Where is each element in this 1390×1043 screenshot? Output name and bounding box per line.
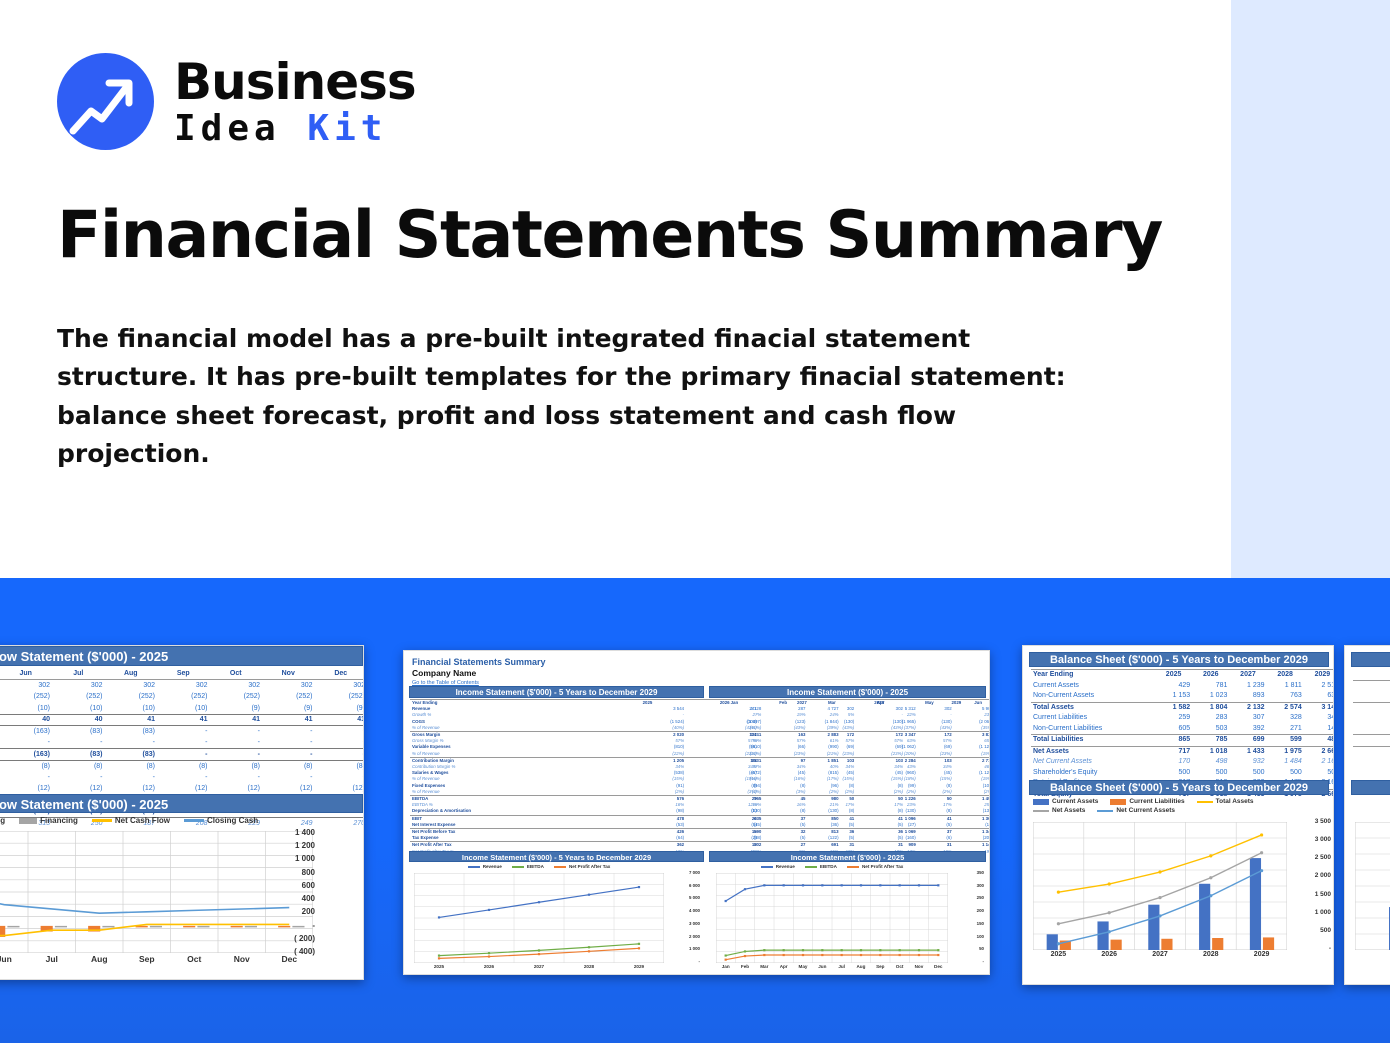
axis-tick: Nov bbox=[909, 964, 928, 969]
table-cell: - bbox=[0, 772, 52, 784]
table-cell: (8) bbox=[210, 760, 263, 772]
table-cell: (12) bbox=[0, 783, 52, 795]
table-cell: (10) bbox=[0, 703, 52, 715]
table-row: 124 bbox=[1353, 691, 1390, 702]
legend-label: Revenue bbox=[776, 864, 795, 869]
axis-tick: Sep bbox=[871, 964, 890, 969]
table-cell: 392 bbox=[1229, 724, 1266, 735]
table-cell: 93 bbox=[1353, 713, 1390, 724]
brand-logo: Business Idea Kit bbox=[57, 53, 416, 150]
axis-tick: 1 000 bbox=[1289, 909, 1331, 916]
table-row: Current Assets4297811 2391 8112 513 bbox=[1031, 681, 1334, 692]
legend-item: Net Current Assets bbox=[1097, 807, 1175, 814]
table-cell: 36 bbox=[808, 829, 857, 836]
table-row: (5)(5)(5)(5)(5)(5)(4)(4)(4)(4)(4)(4) bbox=[710, 822, 990, 829]
table-cell: 512 bbox=[1353, 746, 1390, 757]
column-header: Sep bbox=[157, 668, 210, 680]
axis-tick: 1 500 bbox=[1289, 891, 1331, 898]
legend-item: Current Assets bbox=[1033, 798, 1098, 805]
table-cell: 124 bbox=[1353, 691, 1390, 702]
table-cell: 1 484 bbox=[1267, 757, 1304, 768]
brand-name-primary: Business bbox=[174, 57, 416, 107]
legend-label: EBITDA bbox=[527, 864, 544, 869]
table-cell: Apr bbox=[856, 700, 905, 707]
table-cell: 1 297 bbox=[1353, 702, 1390, 713]
balance-sheet-chart-plot bbox=[1033, 822, 1287, 950]
table-cell: (2%) bbox=[905, 789, 954, 796]
table-row: Non-Current Liabilities605503392271141 bbox=[1031, 724, 1334, 735]
table-cell: (9) bbox=[315, 703, 365, 715]
legend-swatch bbox=[805, 866, 817, 868]
table-row: (249)(252)(252)(252)(252)(252)(252)(252) bbox=[0, 691, 364, 703]
table-cell: 302 bbox=[315, 680, 365, 692]
table-cell: 172 bbox=[856, 732, 905, 739]
legend-swatch bbox=[92, 819, 112, 822]
table-cell: 31 bbox=[954, 842, 990, 849]
table-cell: 426 bbox=[609, 829, 686, 836]
table-cell: 2025 bbox=[1155, 670, 1192, 681]
balance-sheet-monthly-screenshot-panel[interactable]: Jan1 1741241 297936927865121 08150012512… bbox=[1344, 645, 1390, 985]
axis-tick: 4 000 bbox=[666, 908, 700, 913]
table-cell: 50 bbox=[954, 796, 990, 803]
table-row: (2)(5)(5)(5)(6)(6)(6)(6)(6)(6)(6)(6) bbox=[710, 835, 990, 842]
income-monthly-table: JanFebMarAprMayJunJulAugSepOctNovDec2412… bbox=[710, 699, 990, 855]
table-cell: 45 bbox=[759, 796, 808, 803]
table-cell: 498 bbox=[1192, 757, 1229, 768]
table-cell: 699 bbox=[1229, 735, 1266, 747]
legend-label: Net Cash Flow bbox=[115, 816, 170, 825]
axis-tick: 6 000 bbox=[666, 883, 700, 888]
axis-tick: Sep bbox=[123, 954, 171, 964]
table-cell: (8) bbox=[954, 808, 990, 815]
table-cell: 1 174 bbox=[1353, 680, 1390, 691]
table-row: 153236363737373737373737 bbox=[710, 829, 990, 836]
legend-swatch bbox=[1197, 801, 1213, 803]
table-cell: (12) bbox=[105, 783, 158, 795]
legend-label: Current Assets bbox=[1052, 798, 1098, 805]
table-cell: (23%) bbox=[905, 751, 954, 758]
table-cell: - bbox=[315, 749, 365, 761]
row-label: Depreciation & Amortisation bbox=[410, 808, 609, 815]
table-cell: 763 bbox=[1267, 691, 1304, 702]
table-cell: 31 bbox=[856, 842, 905, 849]
table-cell: 717 bbox=[1155, 746, 1192, 757]
table-cell: 485 bbox=[1304, 735, 1334, 747]
table-row: 1 297 bbox=[1353, 702, 1390, 713]
table-cell: 103 bbox=[954, 757, 990, 764]
table-cell: (8) bbox=[856, 808, 905, 815]
table-cell: (8) bbox=[905, 808, 954, 815]
table-cell: (8) bbox=[808, 808, 857, 815]
axis-tick: 1 400 bbox=[259, 828, 315, 837]
table-row: (104)(123)(130)(130)(130)(130)(130)(130)… bbox=[710, 719, 990, 725]
table-cell: 2027 bbox=[1229, 670, 1266, 681]
income-monthly-table-title: Income Statement ($'000) - 2025 bbox=[709, 686, 986, 698]
table-cell: (43%) bbox=[856, 725, 905, 732]
legend-swatch bbox=[512, 866, 524, 868]
table-cell: 500 bbox=[1267, 768, 1304, 779]
table-cell: 40 bbox=[0, 714, 52, 726]
table-cell: 503 bbox=[1192, 724, 1229, 735]
table-row: (163)(163)(83)(83)---- bbox=[0, 726, 364, 738]
table-cell: 1 582 bbox=[1155, 702, 1192, 713]
axis-tick: Jul bbox=[832, 964, 851, 969]
table-cell: (12) bbox=[262, 783, 315, 795]
table-cell: (8) bbox=[52, 760, 105, 772]
table-row: Total Assets1 5821 8042 1322 5743 146 bbox=[1031, 702, 1334, 713]
table-cell: (43%) bbox=[710, 725, 759, 732]
axis-tick: - bbox=[1289, 945, 1331, 952]
row-label: EBIT bbox=[410, 815, 609, 822]
axis-tick: 2025 bbox=[414, 964, 464, 969]
table-row: (8)(8)(8)(8)(8)(8)(8)(8)(8)(8)(8)(8) bbox=[710, 783, 990, 789]
table-cell: - bbox=[52, 737, 105, 749]
table-cell: 692 bbox=[1353, 724, 1390, 735]
axis-tick: May bbox=[793, 964, 812, 969]
legend-swatch bbox=[847, 866, 859, 868]
table-row: JanFebMarAprMayJunJulAugSepOctNovDec bbox=[710, 700, 990, 707]
axis-tick: 300 bbox=[950, 883, 984, 888]
table-cell: (5) bbox=[808, 822, 857, 829]
table-row: 4340404141414141 bbox=[0, 714, 364, 726]
table-row: (43%)(43%)(43%)(43%)(43%)(43%)(43%)(43%)… bbox=[710, 725, 990, 732]
income-monthly-legend: RevenueEBITDANet Profit After Tax bbox=[716, 864, 948, 869]
row-label: Tax Expense bbox=[410, 835, 609, 842]
table-cell: 302 bbox=[0, 680, 52, 692]
legend-item: Net Cash Flow bbox=[92, 816, 170, 825]
table-cell: (23%) bbox=[710, 751, 759, 758]
legend-label: Current Liabilities bbox=[1129, 798, 1184, 805]
table-cell: 785 bbox=[1192, 735, 1229, 747]
legend-swatch bbox=[554, 866, 566, 868]
axis-tick: 2027 bbox=[514, 964, 564, 969]
axis-tick: 2028 bbox=[1185, 951, 1236, 958]
legend-item: Investing bbox=[0, 816, 5, 825]
table-cell: 633 bbox=[1304, 691, 1334, 702]
legend-label: Net Current Assets bbox=[1116, 807, 1175, 814]
slide-root: Business Idea Kit Financial Statements S… bbox=[0, 0, 1390, 1043]
table-cell: 103 bbox=[905, 757, 954, 764]
table-cell: - bbox=[105, 737, 158, 749]
axis-tick: Jun bbox=[0, 954, 28, 964]
table-cell: 283 bbox=[1192, 713, 1229, 724]
table-cell: 259 bbox=[1155, 713, 1192, 724]
table-row: (3%)(3%)(2%)(2%)(2%)(2%)(2%)(2%)(2%)(2%)… bbox=[710, 789, 990, 796]
legend-item: EBITDA bbox=[512, 864, 544, 869]
balance-sheet-x-axis: 20252026202720282029 bbox=[1033, 951, 1287, 958]
table-cell: (12) bbox=[315, 783, 365, 795]
table-cell: 172 bbox=[905, 732, 954, 739]
axis-tick: Nov bbox=[218, 954, 266, 964]
table-row: -------- bbox=[0, 772, 364, 784]
table-row: 786 bbox=[1353, 735, 1390, 747]
axis-tick: - bbox=[666, 959, 700, 964]
far-panel-chart-title-bar bbox=[1351, 780, 1390, 795]
far-panel-x-label: Jan bbox=[1355, 951, 1390, 958]
table-row: (8)(8)(8)(8)(8)(8)(8)(8) bbox=[0, 760, 364, 772]
table-cell: (83) bbox=[105, 749, 158, 761]
table-cell: (22%) bbox=[609, 751, 686, 758]
axis-tick: 200 bbox=[950, 908, 984, 913]
row-label: EBITDA bbox=[410, 796, 609, 803]
table-cell: (5) bbox=[856, 822, 905, 829]
income-monthly-x-axis: JanFebMarAprMayJunJulAugSepOctNovDec bbox=[716, 964, 948, 969]
table-cell: 1 153 bbox=[1155, 691, 1192, 702]
axis-tick: Oct bbox=[890, 964, 909, 969]
table-cell: 2 020 bbox=[609, 732, 686, 739]
table-row: Shareholder's Equity500500500500500 bbox=[1031, 768, 1334, 779]
axis-tick: 2029 bbox=[1236, 951, 1287, 958]
row-label: Gross Margin bbox=[410, 732, 609, 739]
table-cell: (53) bbox=[609, 822, 686, 829]
table-row: (10)(10)(10)(10)(10)(9)(9)(9) bbox=[0, 703, 364, 715]
table-row: 93 bbox=[1353, 713, 1390, 724]
table-cell: 1 205 bbox=[609, 757, 686, 764]
table-cell: (6) bbox=[954, 835, 990, 842]
table-row: 132731313131313131313131 bbox=[710, 842, 990, 849]
legend-label: Net Profit After Tax bbox=[862, 864, 903, 869]
table-cell: (43%) bbox=[954, 725, 990, 732]
table-cell: 2 513 bbox=[1304, 681, 1334, 692]
table-cell: - bbox=[210, 726, 263, 738]
table-cell: 163 bbox=[759, 732, 808, 739]
table-cell: 13 bbox=[710, 842, 759, 849]
table-cell: (5) bbox=[954, 822, 990, 829]
row-label: Current Liabilities bbox=[1031, 713, 1155, 724]
table-row: (19%)(16%)(15%)(15%)(15%)(15%)(15%)(15%)… bbox=[710, 776, 990, 782]
table-cell: 1 023 bbox=[1192, 691, 1229, 702]
table-cell: (252) bbox=[315, 691, 365, 703]
table-cell: 1 081 bbox=[1353, 757, 1390, 768]
axis-tick: 5 000 bbox=[666, 895, 700, 900]
table-row: -------- bbox=[0, 737, 364, 749]
table-cell: 786 bbox=[1353, 735, 1390, 747]
table-cell: (9) bbox=[262, 703, 315, 715]
table-cell: Feb bbox=[759, 700, 808, 707]
table-cell: 500 bbox=[1353, 768, 1390, 779]
table-row: 8297103103103103103103103103103103 bbox=[710, 757, 990, 764]
table-cell: (5) bbox=[759, 835, 808, 842]
income-statement-screenshot-panel[interactable]: Financial Statements Summary Company Nam… bbox=[403, 650, 990, 975]
table-cell: (3%) bbox=[710, 789, 759, 796]
table-cell: 41 bbox=[856, 815, 905, 822]
table-cell: 41 bbox=[105, 714, 158, 726]
legend-item: Total Assets bbox=[1197, 798, 1254, 805]
table-cell: 170 bbox=[1155, 757, 1192, 768]
axis-tick: 2026 bbox=[464, 964, 514, 969]
table-cell: 344 bbox=[1304, 713, 1334, 724]
table-cell: 1 804 bbox=[1192, 702, 1229, 713]
table-cell: (98) bbox=[609, 808, 686, 815]
legend-item: Financing bbox=[19, 816, 78, 825]
income-annual-chart-title: Income Statement ($'000) - 5 Years to De… bbox=[409, 851, 704, 862]
axis-tick: 2 000 bbox=[666, 934, 700, 939]
table-cell: (8) bbox=[315, 760, 365, 772]
axis-tick: 2027 bbox=[1135, 951, 1186, 958]
table-cell: 15 bbox=[710, 829, 759, 836]
income-annual-y-axis: 7 0006 0005 0004 0003 0002 0001 000- bbox=[666, 870, 700, 964]
table-cell: - bbox=[262, 772, 315, 784]
income-monthly-y-axis: 35030025020015010050- bbox=[950, 870, 984, 964]
table-cell: (23%) bbox=[808, 751, 857, 758]
axis-tick: Jan bbox=[716, 964, 735, 969]
table-cell: 500 bbox=[1192, 768, 1229, 779]
table-cell: 50 bbox=[905, 796, 954, 803]
table-row: (8)(8)(8)(8)(8)(8)(8)(8)(8)(8)(8)(8) bbox=[710, 808, 990, 815]
far-panel-chart-plot bbox=[1355, 822, 1390, 950]
axis-tick: Apr bbox=[774, 964, 793, 969]
table-cell: 576 bbox=[609, 796, 686, 803]
table-cell: (10) bbox=[105, 703, 158, 715]
table-row: Net Current Assets1704989321 4842 169 bbox=[1031, 757, 1334, 768]
company-name: Company Name bbox=[412, 668, 546, 678]
row-label: Net Profit Before Tax bbox=[410, 829, 609, 836]
table-cell: 3 146 bbox=[1304, 702, 1334, 713]
table-cell: 41 bbox=[905, 815, 954, 822]
income-monthly-chart-title: Income Statement ($'000) - 2025 bbox=[709, 851, 986, 862]
table-cell: (8) bbox=[157, 760, 210, 772]
table-cell: (10) bbox=[157, 703, 210, 715]
table-row: MayJunJulAugSepOctNovDec bbox=[0, 668, 364, 680]
table-row: Current Liabilities259283307328344 bbox=[1031, 713, 1334, 724]
column-header: Jun bbox=[0, 668, 52, 680]
table-row: 137163172172172172172172172172172172 bbox=[710, 732, 990, 739]
table-cell: 27 bbox=[759, 842, 808, 849]
legend-swatch bbox=[761, 866, 773, 868]
table-cell: - bbox=[0, 737, 52, 749]
table-cell: 41 bbox=[315, 714, 365, 726]
row-label: Non-Current Assets bbox=[1031, 691, 1155, 702]
table-cell: 302 bbox=[52, 680, 105, 692]
axis-tick: Aug bbox=[76, 954, 124, 964]
table-cell: 500 bbox=[1155, 768, 1192, 779]
axis-tick: 3 000 bbox=[1289, 836, 1331, 843]
legend-item: Revenue bbox=[761, 864, 795, 869]
table-cell: 50 bbox=[856, 796, 905, 803]
table-cell: (5) bbox=[905, 822, 954, 829]
row-label: % of Revenue bbox=[410, 725, 609, 732]
table-cell: 893 bbox=[1229, 691, 1266, 702]
row-label: Shareholder's Equity bbox=[1031, 768, 1155, 779]
balance-sheet-chart-legend: Current AssetsCurrent LiabilitiesTotal A… bbox=[1033, 798, 1325, 816]
right-accent-band bbox=[1231, 0, 1390, 578]
table-cell: Mar bbox=[808, 700, 857, 707]
table-cell: (8) bbox=[759, 808, 808, 815]
table-row: 512 bbox=[1353, 746, 1390, 757]
table-cell: 172 bbox=[808, 732, 857, 739]
table-cell: 29 bbox=[710, 796, 759, 803]
table-cell: (252) bbox=[262, 691, 315, 703]
row-label: Current Assets bbox=[1031, 681, 1155, 692]
axis-tick: 1 000 bbox=[259, 854, 315, 863]
income-annual-table-title: Income Statement ($'000) - 5 Years to De… bbox=[409, 686, 704, 698]
row-label: Net Profit After Tax bbox=[410, 842, 609, 849]
table-row: 294550505050505050505050 bbox=[710, 796, 990, 803]
table-cell: 31 bbox=[808, 842, 857, 849]
table-cell: 41 bbox=[808, 815, 857, 822]
table-cell: 37 bbox=[954, 829, 990, 836]
legend-swatch bbox=[1097, 810, 1113, 812]
column-header: Dec bbox=[315, 668, 365, 680]
table-cell: (163) bbox=[0, 749, 52, 761]
table-cell: - bbox=[315, 726, 365, 738]
row-label: % of Revenue bbox=[410, 751, 609, 758]
table-cell: 500 bbox=[1304, 768, 1334, 779]
axis-tick: 150 bbox=[950, 921, 984, 926]
table-cell: 41 bbox=[157, 714, 210, 726]
axis-tick: - bbox=[950, 959, 984, 964]
table-cell: (23%) bbox=[954, 751, 990, 758]
table-cell: 328 bbox=[1267, 713, 1304, 724]
cash-flow-chart-legend: InvestingFinancingNet Cash FlowClosing C… bbox=[0, 816, 359, 825]
table-cell: (252) bbox=[210, 691, 263, 703]
center-heading: Financial Statements Summary bbox=[412, 657, 546, 667]
row-label: Contribution Margin bbox=[410, 757, 609, 764]
legend-row: Net AssetsNet Current Assets bbox=[1033, 807, 1325, 814]
table-cell: (10) bbox=[52, 703, 105, 715]
table-cell: (9) bbox=[210, 703, 263, 715]
table-row: Jan bbox=[1353, 669, 1390, 680]
brand-name-secondary: Idea bbox=[174, 108, 281, 149]
axis-tick: 50 bbox=[950, 946, 984, 951]
table-row: 1 081 bbox=[1353, 757, 1390, 768]
table-cell: 302 bbox=[262, 680, 315, 692]
table-cell: 172 bbox=[954, 732, 990, 739]
table-cell: (8) bbox=[710, 808, 759, 815]
table-row: Total Liabilities865785699599485 bbox=[1031, 735, 1334, 747]
table-cell: 41 bbox=[210, 714, 263, 726]
table-cell: (2%) bbox=[609, 789, 686, 796]
table-cell: (43%) bbox=[759, 725, 808, 732]
table-cell: (83) bbox=[105, 726, 158, 738]
axis-tick: 2026 bbox=[1084, 951, 1135, 958]
table-cell: - bbox=[157, 772, 210, 784]
column-header: Nov bbox=[262, 668, 315, 680]
table-cell: 599 bbox=[1267, 735, 1304, 747]
legend-item: Net Profit After Tax bbox=[554, 864, 610, 869]
table-cell: (252) bbox=[52, 691, 105, 703]
axis-tick: Jul bbox=[28, 954, 76, 964]
income-annual-x-axis: 20252026202720282029 bbox=[414, 964, 664, 969]
table-row: Net Assets7171 0181 4331 9752 660 bbox=[1031, 746, 1334, 757]
legend-item: Closing Cash bbox=[184, 816, 258, 825]
page-title: Financial Statements Summary bbox=[57, 203, 1177, 268]
balance-sheet-screenshot-panel[interactable]: Balance Sheet ($'000) - 5 Years to Decem… bbox=[1022, 645, 1334, 985]
table-row: 302302302302302302302302 bbox=[0, 680, 364, 692]
table-cell: 500 bbox=[1229, 768, 1266, 779]
table-row: Year Ending20252026202720282029 bbox=[1031, 670, 1334, 681]
trend-arrow-up-icon bbox=[57, 53, 154, 150]
cash-flow-screenshot-panel[interactable]: Cash Flow Statement ($'000) - 2025 MayJu… bbox=[0, 645, 364, 980]
table-cell: (64) bbox=[609, 835, 686, 842]
legend-label: Total Assets bbox=[1216, 798, 1254, 805]
cash-flow-chart-title: Cash Flow Statement ($'000) - 2025 bbox=[0, 794, 363, 813]
table-cell: - bbox=[262, 749, 315, 761]
axis-tick: 3 500 bbox=[1289, 818, 1331, 825]
table-cell: 41 bbox=[262, 714, 315, 726]
table-cell: (8) bbox=[105, 760, 158, 772]
table-cell: - bbox=[157, 749, 210, 761]
legend-swatch bbox=[468, 866, 480, 868]
axis-tick: 400 bbox=[259, 894, 315, 903]
legend-item: Current Liabilities bbox=[1110, 798, 1184, 805]
table-cell: 271 bbox=[1267, 724, 1304, 735]
axis-tick: 600 bbox=[259, 881, 315, 890]
row-label: Year Ending bbox=[1031, 670, 1155, 681]
table-cell: (2) bbox=[710, 835, 759, 842]
axis-tick: 250 bbox=[950, 895, 984, 900]
income-annual-legend: RevenueEBITDANet Profit After Tax bbox=[414, 864, 664, 869]
